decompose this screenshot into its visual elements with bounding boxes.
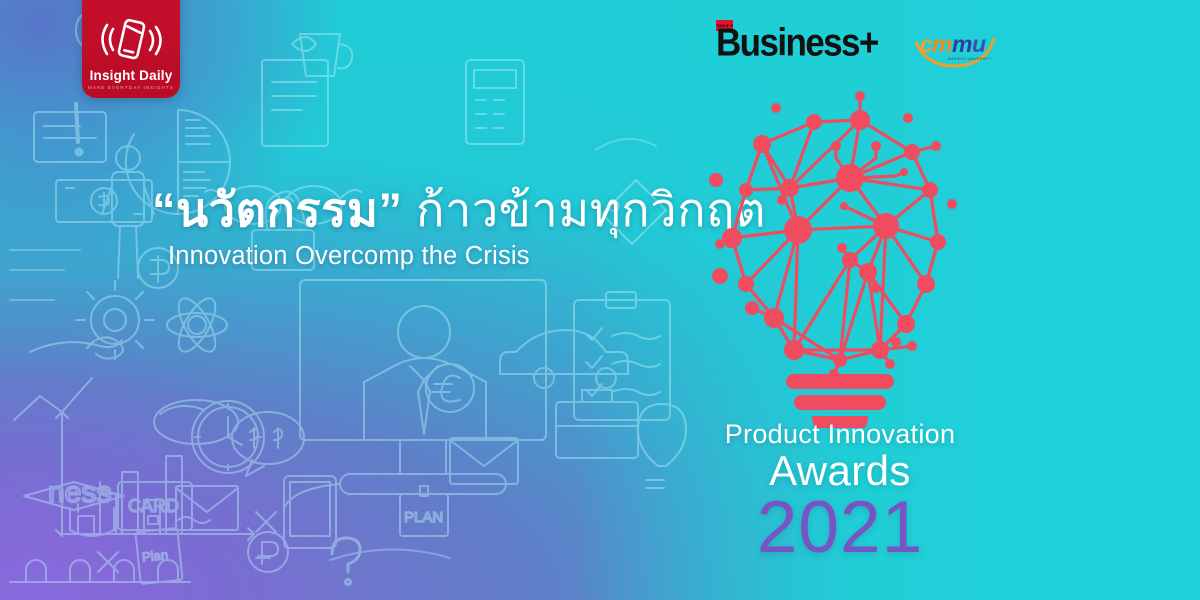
speech-bubble-doodle: [232, 412, 304, 476]
business-plus-logo[interactable]: นิตยสาร Business+: [716, 29, 878, 61]
business-plus-wordmark: Business+: [716, 25, 878, 61]
partner-logo-row: นิตยสาร Business+ c m m u MAHIDOL UNIVER…: [716, 22, 998, 68]
insight-daily-title: Insight Daily: [90, 69, 173, 83]
gear-doodle: [76, 281, 154, 359]
card-doodle: CARD: [118, 482, 192, 530]
award-line-1: Product Innovation: [690, 420, 990, 448]
award-year: 2021: [690, 491, 990, 564]
headline-thai: “นวัตกรรม” ก้าวข้ามทุกวิกฤต: [152, 186, 712, 233]
document-doodle: [262, 37, 328, 146]
plan-tag-doodle: PLAN: [400, 486, 448, 536]
x-mark-doodle: [98, 512, 276, 572]
award-title-block: Product Innovation Awards 2021: [690, 420, 990, 564]
cmmu-mark: c m m u MAHIDOL UNIVERSITY: [912, 22, 998, 68]
calculator-doodle: [466, 60, 524, 144]
network-lightbulb-graphic: [690, 78, 990, 428]
pointing-hand-doodle: [30, 337, 123, 358]
insight-daily-logo[interactable]: Insight Daily Make Everyday Insights: [82, 0, 180, 98]
vibrating-phone-icon: [100, 15, 162, 67]
briefcase-doodle: [556, 390, 638, 458]
svg-text:ness: ness: [48, 476, 111, 509]
svg-text:m: m: [952, 31, 972, 57]
car-doodle: [500, 330, 628, 388]
svg-text:m: m: [932, 31, 952, 57]
svg-text:PLAN: PLAN: [404, 509, 443, 526]
euro-sign-doodle: [426, 364, 474, 412]
headline-thai-quoted: “นวัตกรรม”: [152, 183, 402, 236]
promo-banner: ness CARD: [0, 0, 1200, 600]
checklist-doodle: [574, 292, 670, 420]
cmmu-subtext: MAHIDOL UNIVERSITY: [948, 57, 992, 61]
insight-daily-subtitle: Make Everyday Insights: [88, 85, 174, 90]
svg-text:Plan: Plan: [141, 547, 168, 565]
chart-line-doodle: [14, 378, 92, 420]
headline-block: “นวัตกรรม” ก้าวข้ามทุกวิกฤต Innovation O…: [152, 186, 712, 271]
business-word-doodle: ness: [48, 476, 111, 509]
network-lightbulb-icon: [690, 78, 990, 428]
svg-text:CARD: CARD: [128, 496, 179, 516]
desktop-monitor-doodle: [284, 280, 546, 508]
screen-doodle: [34, 112, 106, 162]
cmmu-logo[interactable]: c m m u MAHIDOL UNIVERSITY: [912, 22, 998, 68]
lightbulb-doodle: [638, 404, 686, 488]
coffee-cup-doodle: [300, 34, 352, 76]
tablet-doodle: [284, 476, 336, 548]
ruble-sign-doodle: [248, 532, 288, 572]
atom-doodle: [167, 293, 227, 357]
headline-english: Innovation Overcomp the Crisis: [168, 242, 712, 271]
envelope-lines-doodle: [176, 486, 238, 530]
banknote-doodle: [56, 180, 152, 222]
envelope-doodle: [450, 438, 518, 484]
svg-text:u: u: [972, 31, 986, 57]
